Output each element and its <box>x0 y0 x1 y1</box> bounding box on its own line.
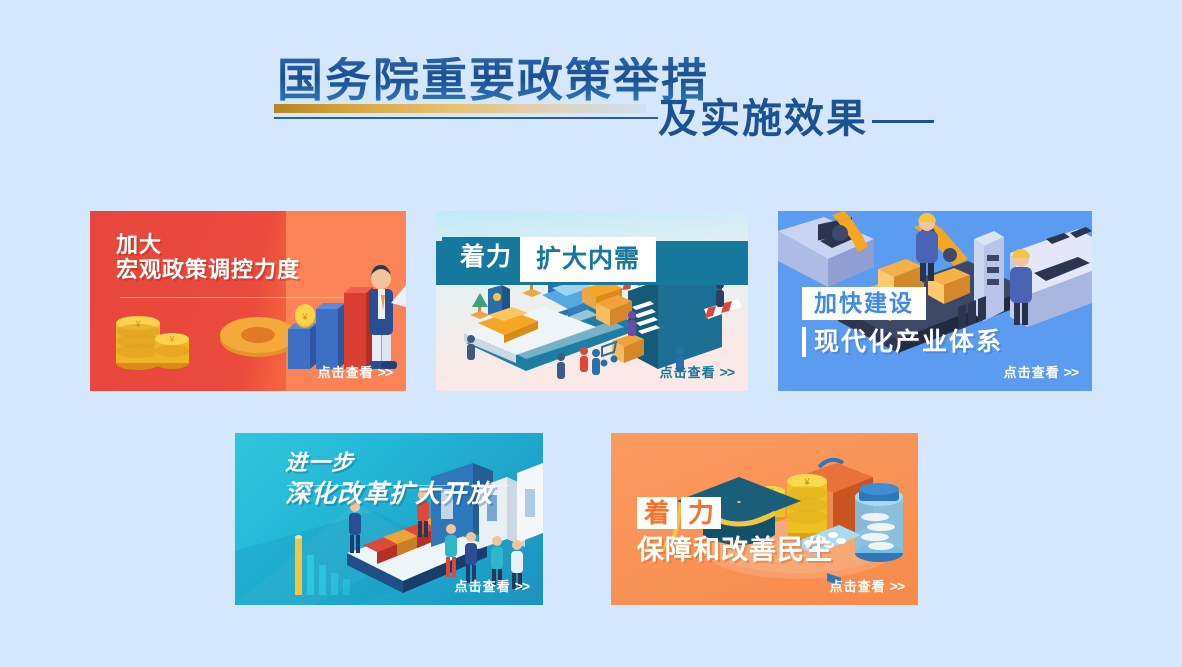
policy-card-improve-peoples-livelihood[interactable]: ¥ ¥ <box>611 433 918 605</box>
card-2-title-line1: 着力 <box>442 237 520 282</box>
page-title-secondary: 及实施效果 <box>658 99 868 139</box>
page-title-primary: 国务院重要政策举措 <box>277 57 709 103</box>
card-2-cta-arrow-icon: >> <box>720 364 734 380</box>
page-title-line1: 国务院重要政策举措 <box>277 57 709 103</box>
page-header: 国务院重要政策举措 及实施效果 <box>0 0 1182 185</box>
card-3-bracket-mark <box>802 327 806 357</box>
policy-card-deepen-reform-opening-up[interactable]: 进一步 深化改革扩大开放 点击查看>> <box>235 433 543 605</box>
card-5-title-char1: 着 <box>637 497 677 529</box>
card-5-title-line2: 保障和改善民生 <box>637 537 833 564</box>
card-5-title-char2: 力 <box>681 497 721 529</box>
card-3-title-line2: 现代化产业体系 <box>814 330 1003 355</box>
card-4-title-divider <box>287 485 509 486</box>
card-2-title-line2: 扩大内需 <box>520 237 656 282</box>
card-1-cta-arrow-icon: >> <box>378 364 392 380</box>
title-rule-secondary <box>872 120 934 123</box>
card-4-cta-arrow-icon: >> <box>515 578 529 594</box>
svg-text:¥: ¥ <box>301 312 308 322</box>
card-3-cta[interactable]: 点击查看>> <box>1004 362 1078 381</box>
policy-card-expand-domestic-demand[interactable]: 着力 扩大内需 点击查看>> <box>436 211 748 391</box>
title-gold-underline <box>274 104 646 113</box>
policy-card-modern-industrial-system[interactable]: 加快建设 现代化产业体系 点击查看>> <box>778 211 1092 391</box>
card-3-cta-label: 点击查看 <box>1004 365 1060 380</box>
policy-card-macro-policy-regulation[interactable]: ¥ ¥ ¥ <box>90 211 406 391</box>
card-3-cta-arrow-icon: >> <box>1064 364 1078 380</box>
svg-text:¥: ¥ <box>803 477 810 487</box>
card-4-cta-label: 点击查看 <box>455 579 511 594</box>
card-5-cta[interactable]: 点击查看>> <box>830 576 904 595</box>
card-5-title: 着 力 保障和改善民生 <box>637 497 833 564</box>
card-1-title-line1: 加大 <box>116 233 300 258</box>
card-4-title-line1: 进一步 <box>285 451 493 476</box>
card-1-title: 加大 宏观政策调控力度 <box>116 233 300 282</box>
card-2-title: 着力 扩大内需 <box>442 237 656 282</box>
card-1-title-line2: 宏观政策调控力度 <box>116 258 300 283</box>
card-1-cta[interactable]: 点击查看>> <box>318 362 392 381</box>
card-2-cta-label: 点击查看 <box>660 365 716 380</box>
card-4-cta[interactable]: 点击查看>> <box>455 576 529 595</box>
card-2-cta[interactable]: 点击查看>> <box>660 362 734 381</box>
card-3-title: 加快建设 现代化产业体系 <box>802 287 1003 357</box>
card-4-title: 进一步 深化改革扩大开放 <box>285 451 493 508</box>
card-1-title-divider <box>120 297 344 298</box>
card-5-cta-arrow-icon: >> <box>890 578 904 594</box>
page-title-line2: 及实施效果 <box>658 99 868 139</box>
title-rule-primary <box>274 117 658 119</box>
card-4-title-line2: 深化改革扩大开放 <box>285 480 493 508</box>
card-5-cta-label: 点击查看 <box>830 579 886 594</box>
card-3-title-line1: 加快建设 <box>802 287 926 320</box>
card-1-cta-label: 点击查看 <box>318 365 374 380</box>
svg-text:¥: ¥ <box>169 335 175 344</box>
svg-text:¥: ¥ <box>134 319 141 329</box>
